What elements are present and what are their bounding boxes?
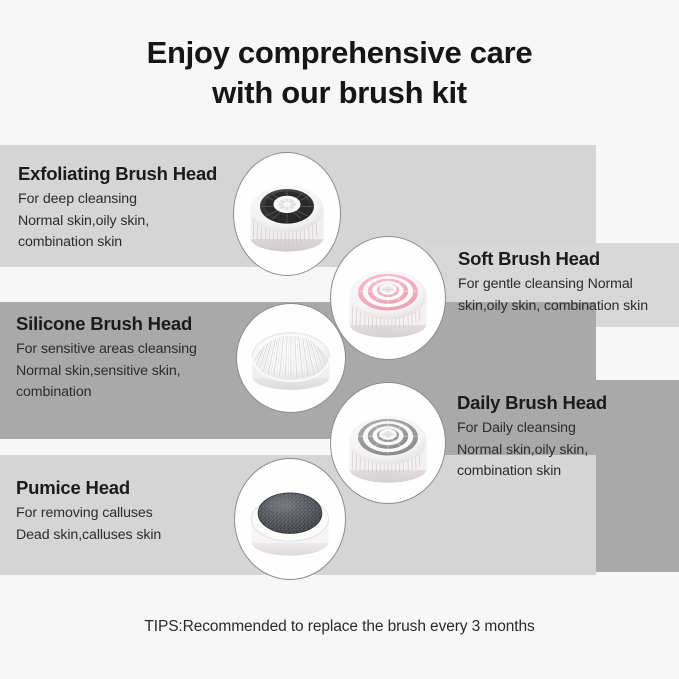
desc-line: For sensitive areas cleansing — [16, 339, 251, 361]
page-title: Enjoy comprehensive care with our brush … — [0, 33, 679, 114]
desc-line: Dead skin,calluses skin — [16, 525, 241, 547]
text-block-soft: Soft Brush Head For gentle cleansing Nor… — [458, 248, 676, 317]
desc-soft: For gentle cleansing Normal skin,oily sk… — [458, 274, 676, 317]
heading-pumice: Pumice Head — [16, 477, 241, 498]
desc-line: For Daily cleansing — [457, 418, 672, 440]
tips-text: TIPS:Recommended to replace the brush ev… — [0, 618, 679, 636]
desc-line: combination skin — [18, 232, 243, 254]
desc-line: skin,oily skin, combination skin — [458, 296, 676, 318]
title-line-2: with our brush kit — [0, 73, 679, 113]
title-line-1: Enjoy comprehensive care — [0, 33, 679, 73]
pumice-head-image — [234, 458, 346, 580]
desc-line: combination — [16, 382, 251, 404]
desc-line: For gentle cleansing Normal — [458, 274, 676, 296]
desc-line: Normal skin,oily skin, — [18, 211, 243, 233]
text-block-daily: Daily Brush Head For Daily cleansing Nor… — [457, 392, 672, 483]
heading-silicone: Silicone Brush Head — [16, 313, 251, 334]
daily-brush-head-image — [330, 382, 446, 504]
heading-soft: Soft Brush Head — [458, 248, 676, 269]
desc-silicone: For sensitive areas cleansing Normal ski… — [16, 339, 251, 404]
desc-daily: For Daily cleansing Normal skin,oily ski… — [457, 418, 672, 483]
desc-exfoliating: For deep cleansing Normal skin,oily skin… — [18, 189, 243, 254]
text-block-silicone: Silicone Brush Head For sensitive areas … — [16, 313, 251, 404]
text-block-pumice: Pumice Head For removing calluses Dead s… — [16, 477, 241, 546]
soft-brush-head-image — [330, 236, 446, 360]
silicone-brush-head-image — [236, 303, 346, 413]
desc-line: For deep cleansing — [18, 189, 243, 211]
desc-line: Normal skin,sensitive skin, — [16, 361, 251, 383]
text-block-exfoliating: Exfoliating Brush Head For deep cleansin… — [18, 163, 243, 254]
desc-line: combination skin — [457, 461, 672, 483]
desc-pumice: For removing calluses Dead skin,calluses… — [16, 503, 241, 546]
heading-daily: Daily Brush Head — [457, 392, 672, 413]
heading-exfoliating: Exfoliating Brush Head — [18, 163, 243, 184]
desc-line: Normal skin,oily skin, — [457, 440, 672, 462]
infographic-page: Enjoy comprehensive care with our brush … — [0, 0, 679, 679]
desc-line: For removing calluses — [16, 503, 241, 525]
exfoliating-brush-head-image — [233, 152, 341, 276]
